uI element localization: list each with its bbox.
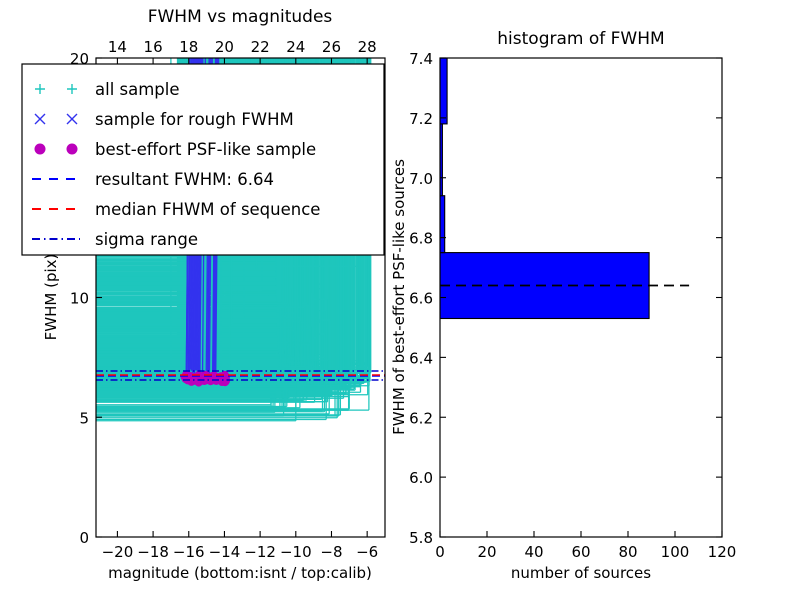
legend-item-label: sample for rough FWHM [95, 110, 294, 129]
right-ytick-label: 5.8 [409, 529, 433, 547]
left-top-xtick-label: 24 [286, 38, 305, 56]
left-ytick-label: 5 [79, 409, 89, 427]
left-xtick-label: −10 [280, 543, 312, 561]
left-xtick-label: −18 [137, 543, 169, 561]
left-top-xtick-label: 18 [179, 38, 198, 56]
right-xtick-label: 80 [618, 543, 637, 561]
right-ytick-label: 6.2 [409, 409, 433, 427]
right-ytick-label: 7.2 [409, 110, 433, 128]
left-xtick-label: −14 [209, 543, 241, 561]
right-xtick-label: 0 [435, 543, 445, 561]
legend-item-label: best-effort PSF-like sample [95, 140, 316, 159]
left-top-xtick-label: 20 [215, 38, 234, 56]
legend-item-label: resultant FWHM: 6.64 [95, 170, 274, 189]
scatter-marker-dot [207, 377, 215, 385]
left-xaxis-bottom: −20−18−16−14−12−10−8−6 [102, 531, 379, 561]
left-yaxis-label: FWHM (pix) [42, 254, 60, 341]
histogram-bars-layer [440, 58, 689, 319]
left-top-xtick-label: 28 [358, 38, 377, 56]
right-xaxis: 020406080100120 [435, 531, 736, 561]
right-ytick-label: 6.4 [409, 349, 433, 367]
right-yaxis-label: FWHM of best-effort PSF-like sources [390, 159, 408, 435]
left-xtick-label: −6 [356, 543, 378, 561]
right-ytick-label: 6.6 [409, 290, 433, 308]
left-xtick-label: −16 [173, 543, 205, 561]
left-panel-title: FWHM vs magnitudes [148, 7, 333, 27]
left-xtick-label: −12 [244, 543, 276, 561]
right-xtick-label: 120 [708, 543, 737, 561]
right-xtick-label: 60 [571, 543, 590, 561]
legend-item-label: sigma range [95, 230, 198, 249]
right-ytick-label: 7.0 [409, 170, 433, 188]
right-panel: histogram of FWHM 020406080100120 5.86.0… [390, 29, 736, 582]
histogram-bar [440, 58, 447, 124]
left-ytick-label: 0 [79, 529, 89, 547]
left-ytick-label: 10 [70, 290, 89, 308]
right-xtick-label: 40 [524, 543, 543, 561]
left-xaxis-label: magnitude (bottom:isnt / top:calib) [108, 564, 372, 582]
right-panel-title: histogram of FWHM [497, 29, 664, 49]
legend-item-label: median FHWM of sequence [95, 200, 320, 219]
legend-box [22, 64, 384, 255]
legend-marker-dot-icon [67, 144, 78, 155]
legend: all samplesample for rough FWHMbest-effo… [22, 64, 384, 255]
series-psf-like [181, 371, 230, 387]
left-top-xtick-label: 22 [251, 38, 270, 56]
left-top-xtick-label: 16 [144, 38, 163, 56]
histogram-bar [440, 196, 445, 253]
right-xtick-label: 100 [661, 543, 690, 561]
right-ytick-label: 6.8 [409, 230, 433, 248]
right-xaxis-label: number of sources [511, 564, 651, 582]
legend-marker-dot-icon [35, 144, 46, 155]
left-top-xtick-label: 26 [322, 38, 341, 56]
left-top-xtick-label: 14 [108, 38, 127, 56]
left-xtick-label: −8 [320, 543, 342, 561]
right-ytick-label: 6.0 [409, 469, 433, 487]
figure-canvas: FWHM vs magnitudes [0, 0, 800, 600]
legend-item-label: all sample [95, 80, 180, 99]
right-xtick-label: 20 [477, 543, 496, 561]
left-xtick-label: −20 [102, 543, 134, 561]
right-ytick-label: 7.4 [409, 50, 433, 68]
